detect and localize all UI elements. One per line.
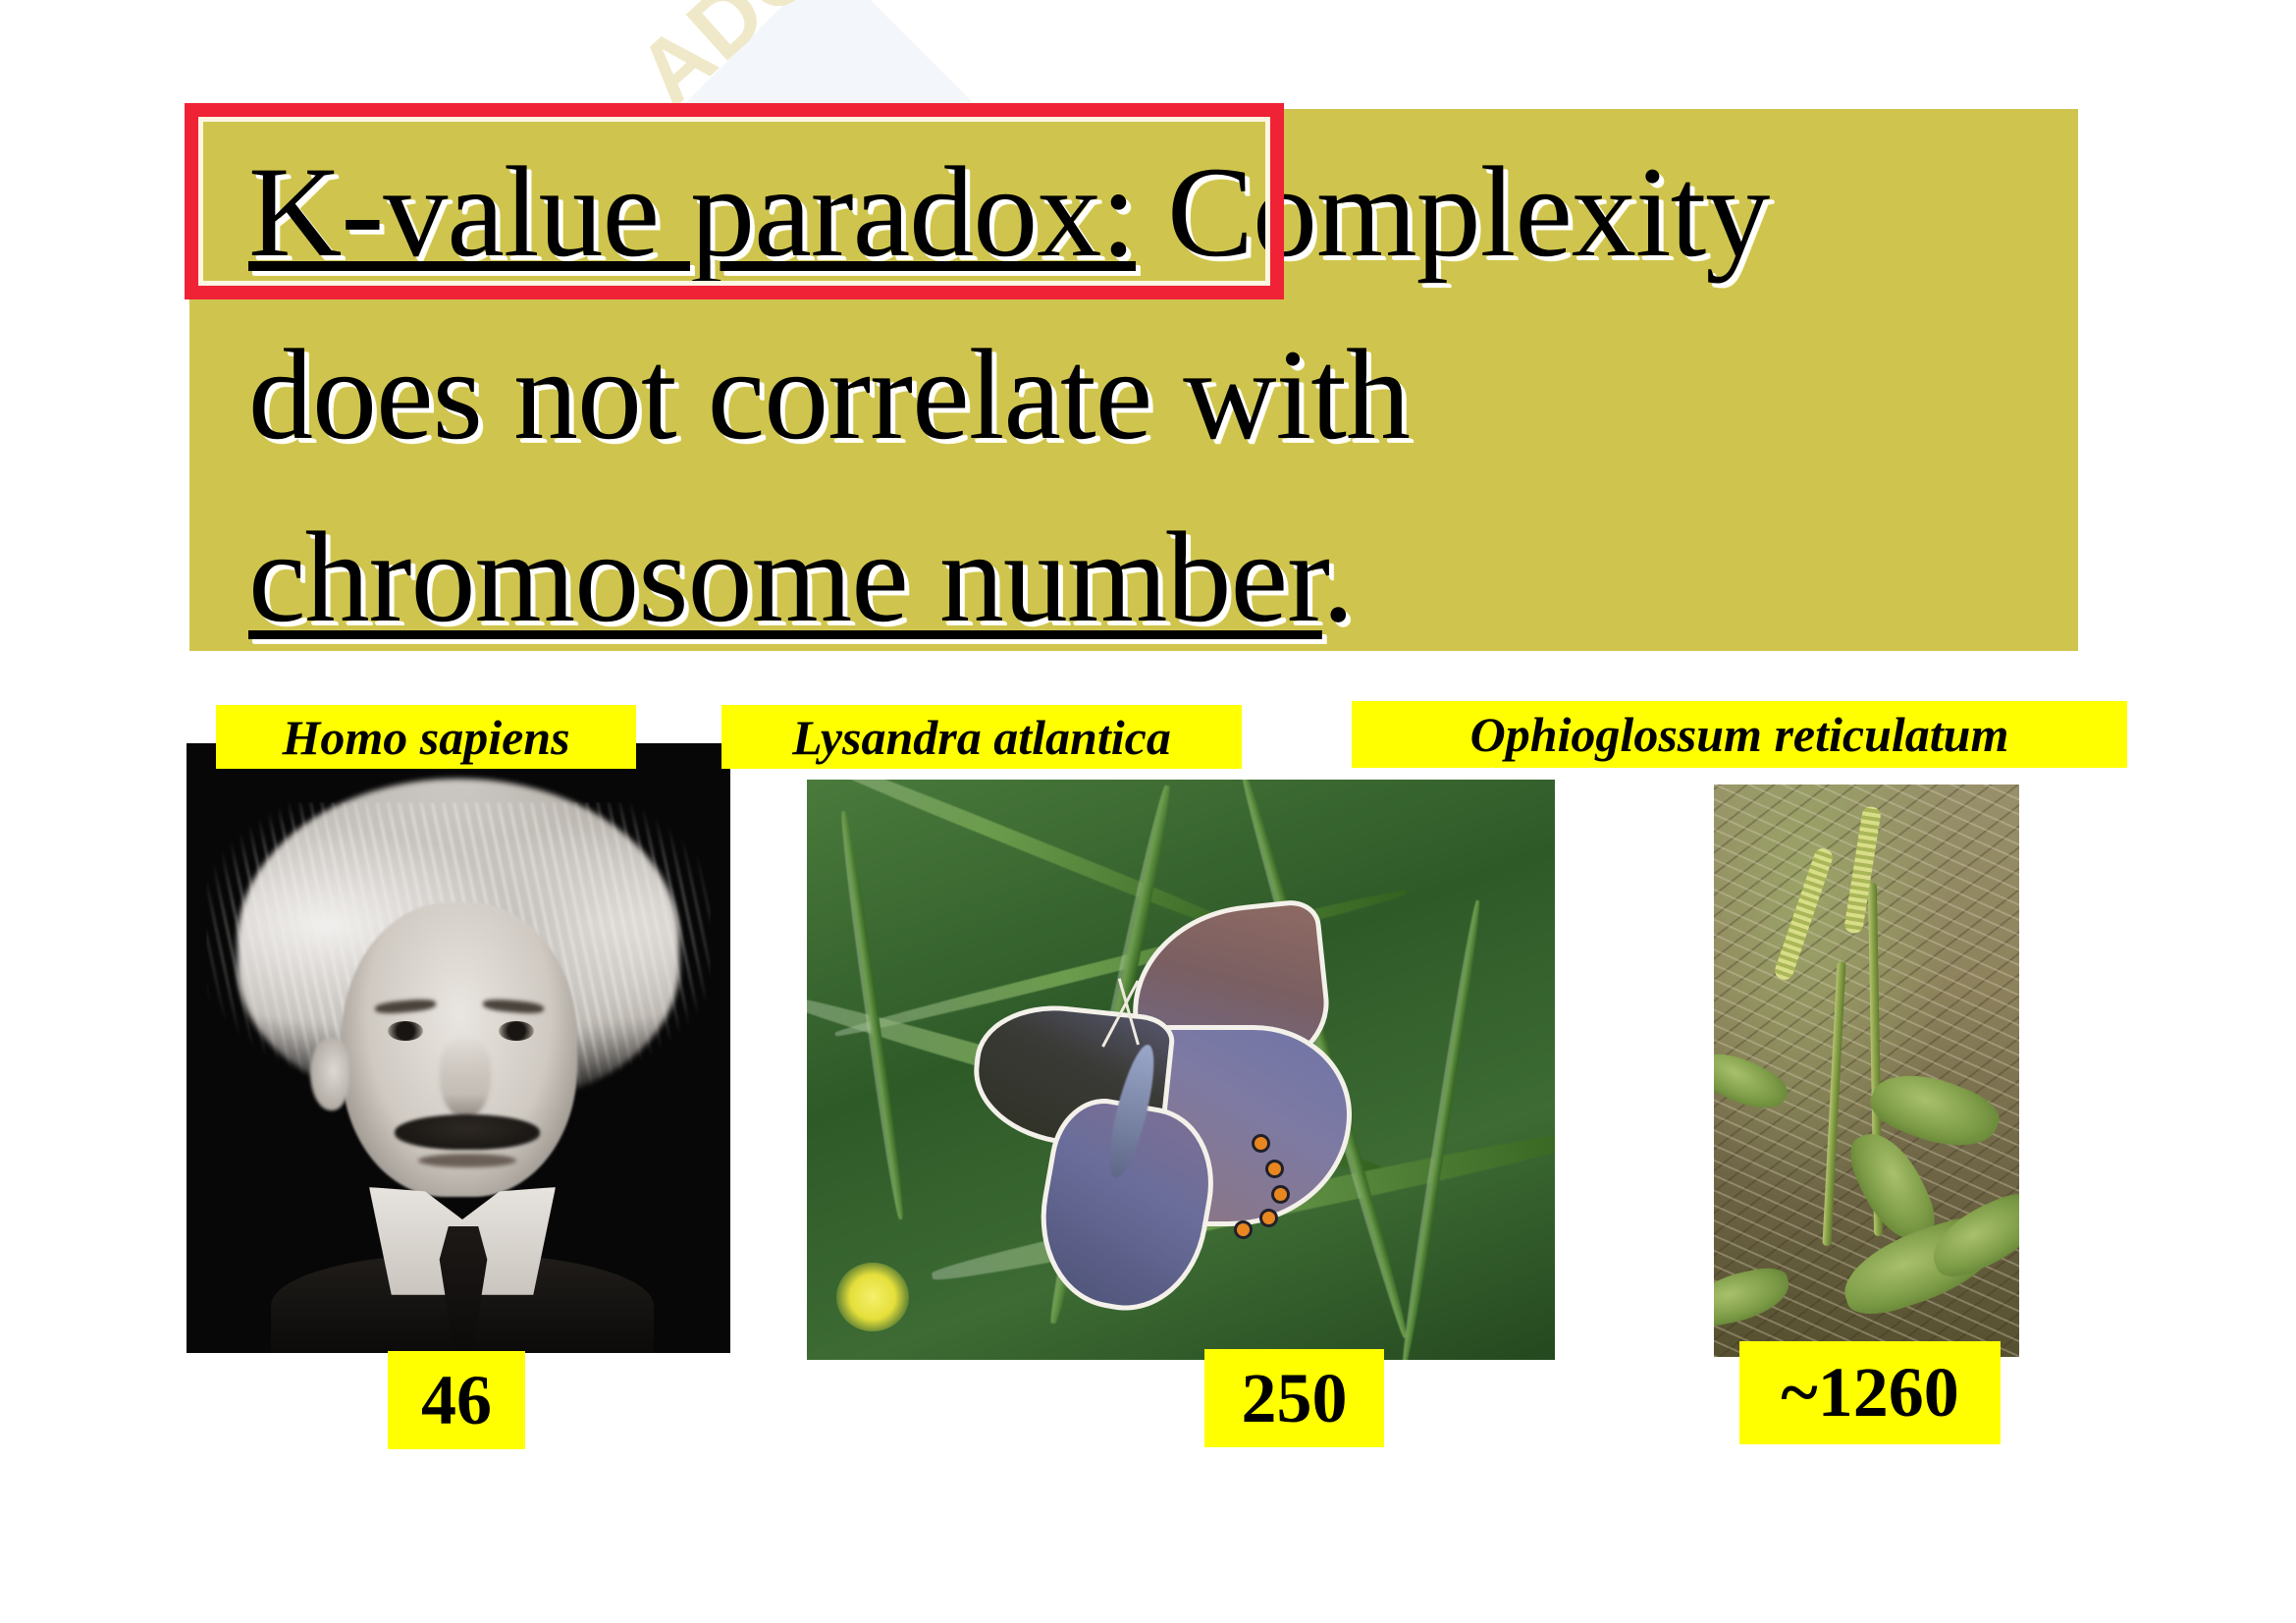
title-line3-underlined: chromosome number (248, 505, 1322, 649)
portrait-eye-left (388, 1021, 423, 1041)
yellow-flower (836, 1263, 909, 1331)
portrait-moustache (395, 1114, 540, 1150)
species-label-lysandra-atlantica: Lysandra atlantica (721, 705, 1242, 769)
portrait-nose (440, 1038, 491, 1118)
chromosome-count-lysandra-atlantica: 250 (1204, 1349, 1384, 1447)
title-line3-end: . (1322, 505, 1354, 649)
portrait-mouth (418, 1154, 516, 1167)
slide-title: K-value paradox: Complexity does not cor… (248, 121, 2084, 669)
specimen-photo-homo-sapiens (187, 743, 730, 1353)
title-highlight-text: K-value paradox: (248, 139, 1136, 284)
grass-blade (1399, 899, 1484, 1360)
chromosome-count-ophioglossum-reticulatum: ~1260 (1739, 1341, 2001, 1444)
chromosome-count-homo-sapiens: 46 (388, 1351, 525, 1449)
title-banner: K-value paradox: Complexity does not cor… (189, 109, 2078, 651)
portrait-ear (310, 1038, 349, 1110)
portrait-eye-right (499, 1021, 534, 1041)
title-line1-rest: Complexity (1136, 139, 1769, 284)
species-label-homo-sapiens: Homo sapiens (216, 705, 636, 769)
specimen-photo-ophioglossum-reticulatum (1714, 784, 2019, 1357)
butterfly-wing-spots (1245, 1133, 1343, 1231)
specimen-photo-lysandra-atlantica (807, 780, 1555, 1360)
watermark-brand-text: ADOC (618, 0, 891, 126)
title-line2: does not correlate with (248, 322, 1410, 466)
species-label-ophioglossum-reticulatum: Ophioglossum reticulatum (1352, 701, 2127, 768)
